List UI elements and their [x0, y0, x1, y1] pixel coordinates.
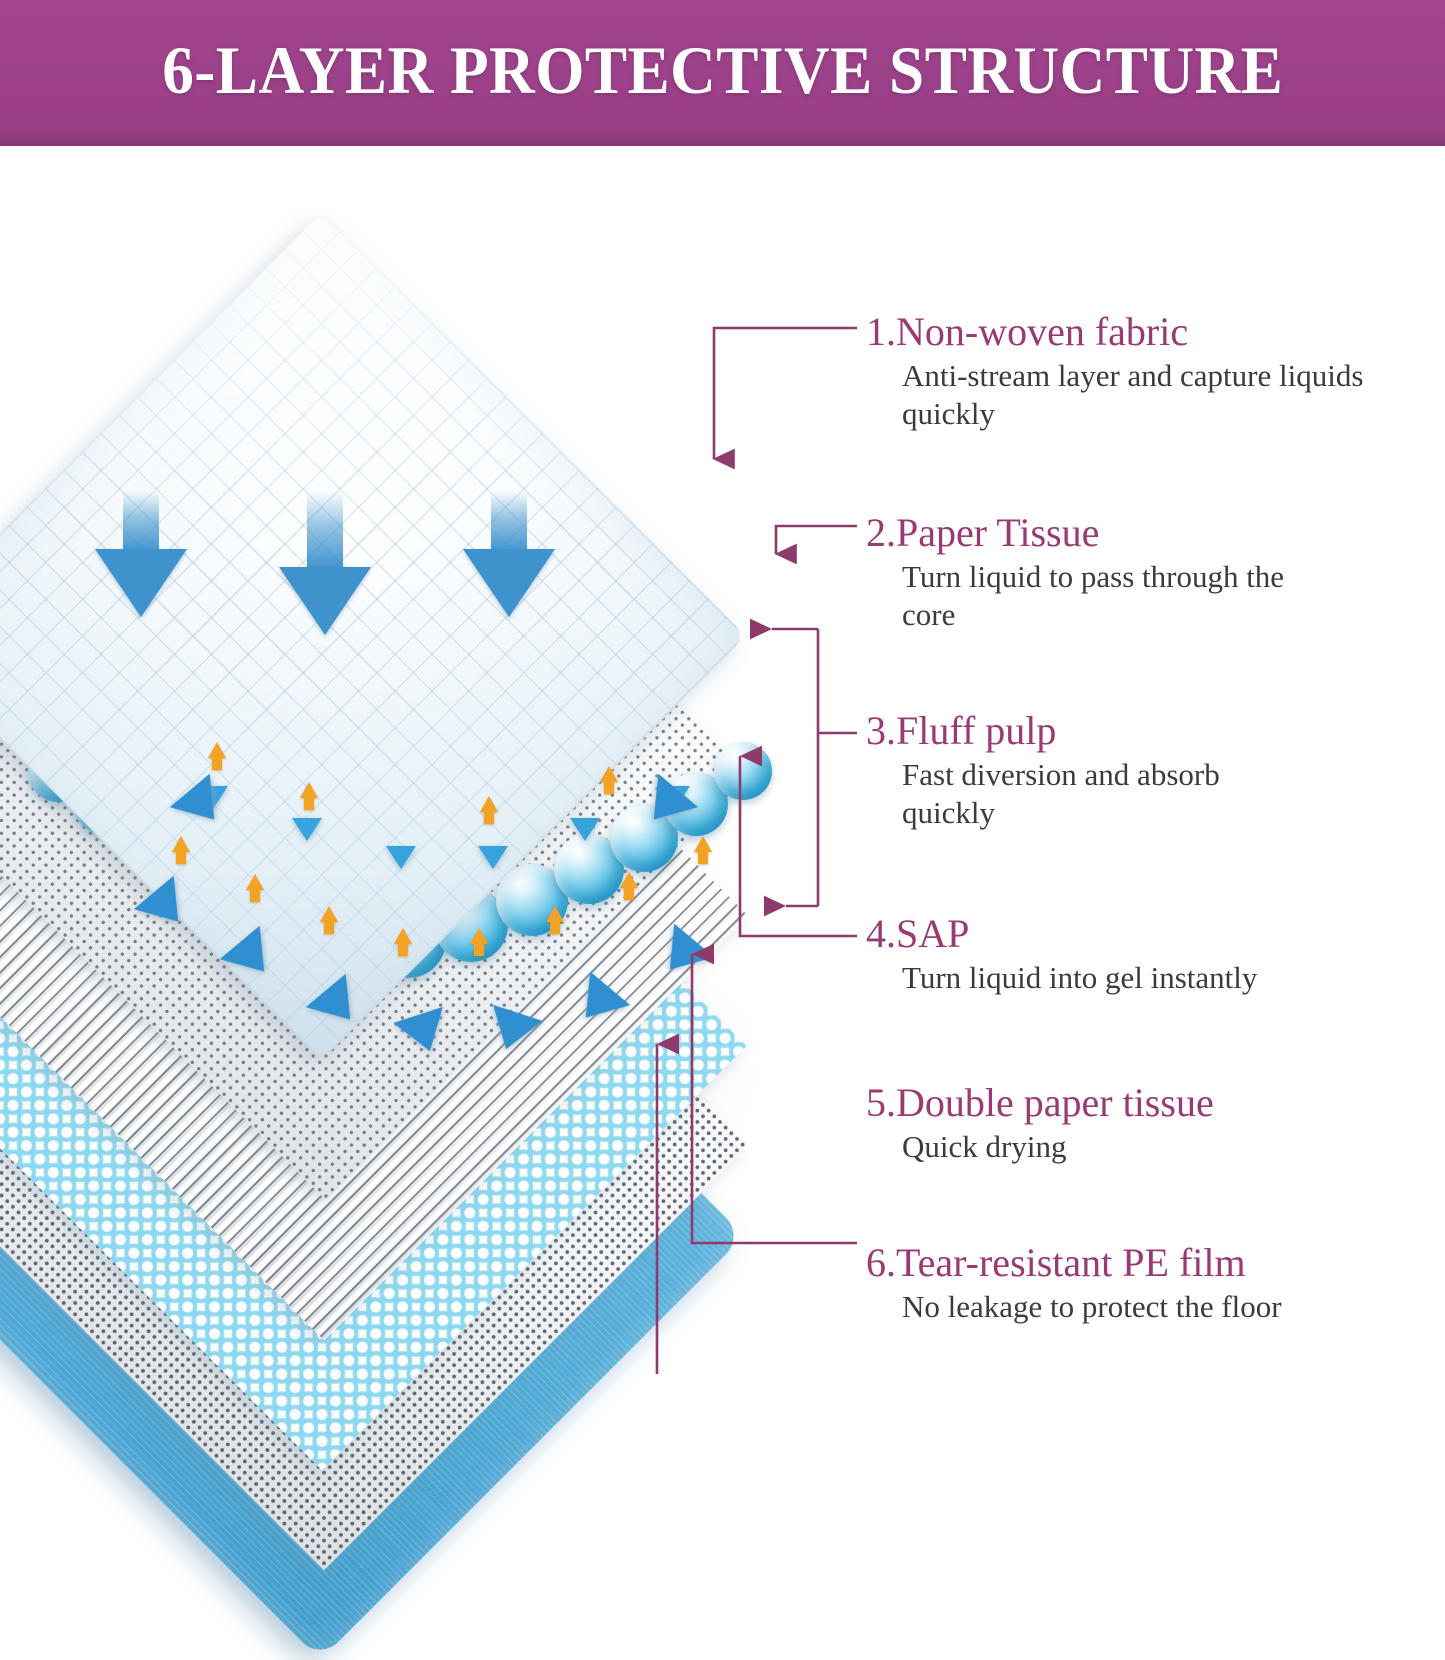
up-arrow-icon [600, 766, 618, 782]
diagram-stage: 1.Non-woven fabric Anti-stream layer and… [0, 146, 1445, 1374]
up-arrow-icon [480, 796, 498, 812]
layer-stack-illustration [0, 146, 860, 1266]
up-arrow-icon [320, 906, 338, 922]
label-block-2: 2.Paper Tissue Turn liquid to pass throu… [866, 511, 1406, 634]
down-chevron-icon [292, 818, 322, 841]
up-arrow-icon [470, 928, 488, 944]
down-arrow-icon [95, 491, 187, 616]
header-banner: 6-LAYER PROTECTIVE STRUCTURE [0, 0, 1445, 146]
up-arrow-icon [246, 874, 264, 890]
label-block-6: 6.Tear-resistant PE film No leakage to p… [866, 1241, 1406, 1326]
label-desc-1: Anti-stream layer and capture liquids qu… [902, 357, 1406, 433]
down-arrow-icon [463, 491, 555, 616]
label-title-4: 4.SAP [866, 912, 1406, 955]
down-chevron-icon [386, 846, 416, 869]
absorption-arrows-group [95, 491, 555, 621]
up-arrow-icon [172, 836, 190, 852]
water-bead [714, 742, 772, 800]
label-desc-5: Quick drying [902, 1128, 1406, 1166]
up-arrow-icon [208, 742, 226, 758]
label-desc-6: No leakage to protect the floor [902, 1288, 1406, 1326]
up-arrow-icon [394, 928, 412, 944]
label-title-3: 3.Fluff pulp [866, 709, 1406, 752]
label-title-5: 5.Double paper tissue [866, 1081, 1406, 1124]
up-arrow-icon [694, 836, 712, 852]
label-block-4: 4.SAP Turn liquid into gel instantly [866, 912, 1406, 997]
label-desc-2: Turn liquid to pass through the core [902, 558, 1332, 634]
up-arrow-icon [546, 906, 564, 922]
label-desc-4: Turn liquid into gel instantly [902, 959, 1406, 997]
label-title-6: 6.Tear-resistant PE film [866, 1241, 1406, 1284]
label-title-2: 2.Paper Tissue [866, 511, 1406, 554]
down-arrow-icon [279, 491, 371, 641]
page-title: 6-LAYER PROTECTIVE STRUCTURE [162, 36, 1283, 110]
up-arrow-icon [620, 872, 638, 888]
label-title-1: 1.Non-woven fabric [866, 310, 1406, 353]
down-chevron-icon [570, 818, 600, 841]
label-block-5: 5.Double paper tissue Quick drying [866, 1081, 1406, 1166]
up-arrow-icon [300, 782, 318, 798]
label-block-3: 3.Fluff pulp Fast diversion and absorb q… [866, 709, 1406, 832]
label-block-1: 1.Non-woven fabric Anti-stream layer and… [866, 310, 1406, 433]
label-desc-3: Fast diversion and absorb quickly [902, 756, 1302, 832]
down-chevron-icon [478, 846, 508, 869]
